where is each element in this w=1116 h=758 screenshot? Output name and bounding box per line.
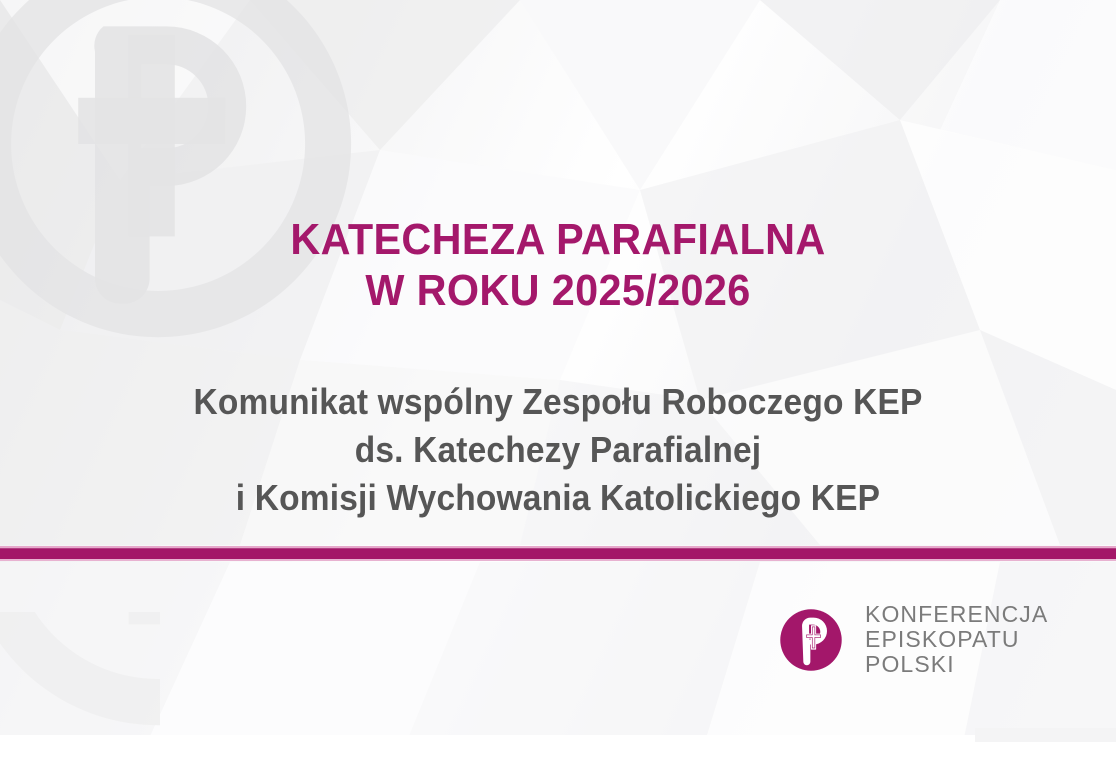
subtitle-line-3: i Komisji Wychowania Katolickiego KEP <box>39 474 1077 522</box>
slide-subtitle: Komunikat wspólny Zespołu Roboczego KEP … <box>0 378 1116 522</box>
slide-title: KATECHEZA PARAFIALNA W ROKU 2025/2026 <box>0 214 1116 316</box>
kep-wordmark-line-2: EPISKOPATU <box>865 627 1048 652</box>
title-line-2: W ROKU 2025/2026 <box>33 265 1082 316</box>
kep-wordmark: KONFERENCJA EPISKOPATU POLSKI <box>865 602 1048 677</box>
subtitle-line-1: Komunikat wspólny Zespołu Roboczego KEP <box>39 378 1077 426</box>
magenta-divider <box>0 546 1116 562</box>
kep-wordmark-line-3: POLSKI <box>865 652 1048 677</box>
bottom-right-accent <box>975 728 1116 742</box>
subtitle-line-2: ds. Katechezy Parafialnej <box>39 426 1077 474</box>
divider-bar <box>0 548 1116 559</box>
presentation-slide: KATECHEZA PARAFIALNA W ROKU 2025/2026 Ko… <box>0 0 1116 758</box>
bottom-white-band <box>0 735 1116 758</box>
kep-logo-mark-icon <box>779 608 843 672</box>
title-line-1: KATECHEZA PARAFIALNA <box>33 214 1082 265</box>
divider-highlight-bottom <box>0 559 1116 561</box>
kep-logo: KONFERENCJA EPISKOPATU POLSKI <box>779 602 1048 677</box>
kep-wordmark-line-1: KONFERENCJA <box>865 602 1048 627</box>
